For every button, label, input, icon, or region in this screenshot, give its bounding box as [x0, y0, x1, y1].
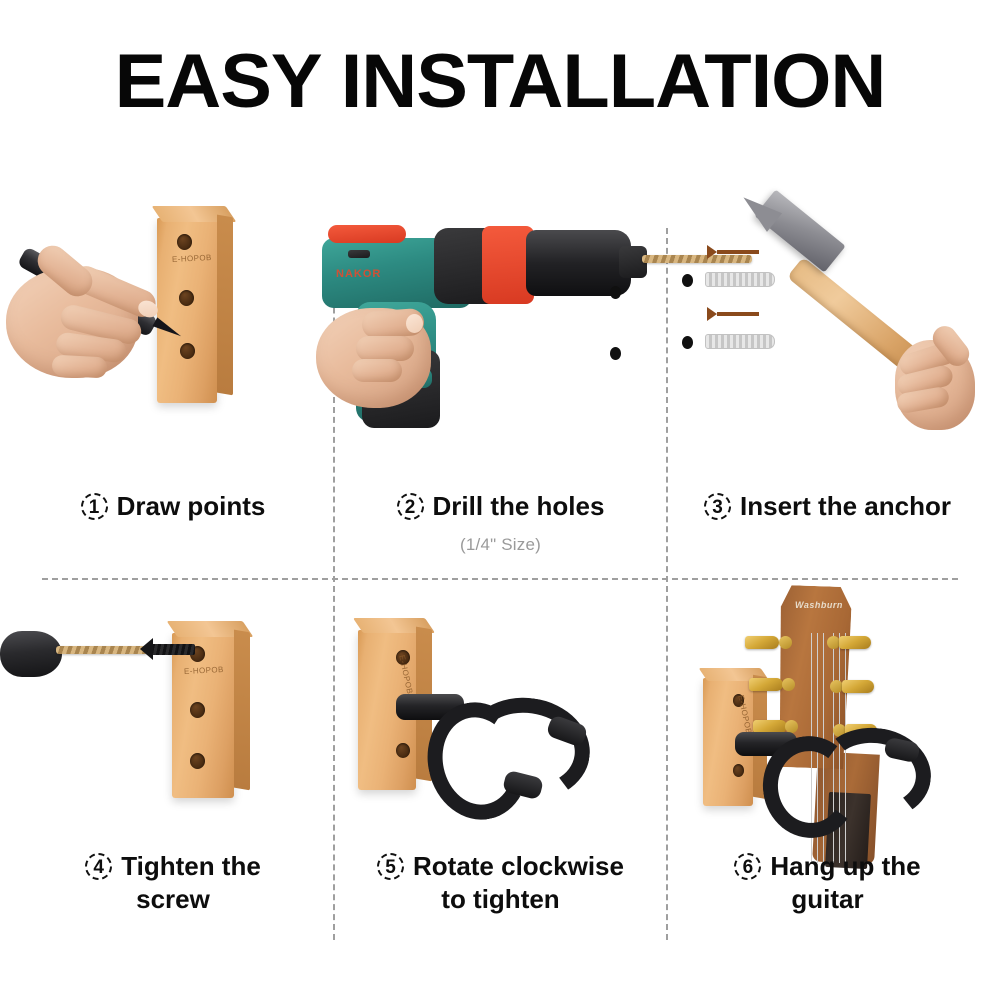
marked-point-bottom	[682, 336, 693, 349]
step-label-1: Draw points	[117, 490, 266, 523]
step-label-3: Insert the anchor	[740, 490, 951, 523]
marked-point-top	[610, 286, 621, 299]
illustration-insert-anchor	[667, 190, 988, 480]
step-label-6-line2: guitar	[667, 883, 988, 916]
tuner-left-1	[745, 636, 779, 649]
tuner-post-left-1	[779, 636, 792, 649]
middle-finger	[356, 336, 414, 361]
index-fingernail	[406, 314, 423, 333]
step-sublabel-2: (1/4" Size)	[334, 528, 667, 561]
illustration-draw-points: E-HOPOB	[12, 190, 334, 480]
wood-hole-bottom	[396, 743, 410, 758]
step-number-badge-5: 5	[377, 853, 404, 880]
arrow-head-bottom	[707, 307, 717, 321]
wood-hole-bottom	[190, 753, 205, 769]
step-label-6-line1: Hang up the	[770, 850, 920, 883]
arrow-bottom	[717, 312, 759, 316]
step-number-badge-3: 3	[704, 493, 731, 520]
step-label-4-line2: screw	[12, 883, 334, 916]
tuner-right-2	[842, 680, 874, 693]
screw-head	[140, 638, 153, 660]
step-card-5: E-HOPOB 5Rotate clockwise to tighten	[334, 578, 667, 960]
step-caption-4: 4Tighten the screw	[12, 850, 334, 916]
guitar-brand-logo: Washburn	[795, 600, 843, 610]
step-card-6: E-HOPOB Washburn	[667, 578, 988, 960]
wood-block-side-face	[234, 630, 250, 791]
tuner-right-1	[839, 636, 871, 649]
step-label-4-line1: Tighten the	[121, 850, 261, 883]
wood-hole-middle	[190, 702, 205, 718]
illustration-hang-guitar: E-HOPOB Washburn	[667, 578, 988, 848]
arrow-head-top	[707, 245, 717, 259]
step-label-5-line2: to tighten	[334, 883, 667, 916]
step-number-badge-4: 4	[85, 853, 112, 880]
tuner-left-2	[749, 678, 783, 691]
step-caption-2: 2Drill the holes (1/4" Size)	[334, 490, 667, 561]
marked-point-top	[682, 274, 693, 287]
wood-block-side-face	[217, 215, 233, 396]
step-label-2: Drill the holes	[433, 490, 605, 523]
step-card-1: E-HOPOB 1Draw points	[12, 190, 334, 578]
step-number-badge-1: 1	[81, 493, 108, 520]
drill-top-red-grip	[328, 225, 406, 243]
step-number-badge-2: 2	[397, 493, 424, 520]
driver-bit	[56, 646, 148, 654]
pinky-finger	[51, 355, 107, 379]
wood-hole-middle	[179, 290, 194, 306]
driver-handle	[0, 631, 62, 677]
illustration-tighten-screw: E-HOPOB	[12, 578, 334, 848]
drill-speed-switch	[348, 250, 370, 258]
wall-anchor-top	[705, 272, 775, 287]
step-number-badge-6: 6	[734, 853, 761, 880]
step-caption-5: 5Rotate clockwise to tighten	[334, 850, 667, 916]
wall-anchor-bottom	[705, 334, 775, 349]
step-card-4: E-HOPOB 4Tighten the screw	[12, 578, 334, 960]
wood-hole-bottom	[180, 343, 195, 359]
tuner-post-left-2	[782, 678, 795, 691]
step-caption-1: 1Draw points	[12, 490, 334, 523]
drill-brand-logo: NAKOR	[336, 268, 381, 280]
screw-shank	[149, 644, 195, 655]
illustration-drill-holes: NAKOR	[334, 190, 667, 480]
ring-finger	[352, 359, 402, 382]
wood-hole-top	[177, 234, 192, 250]
steps-grid: E-HOPOB 1Draw points	[0, 190, 1000, 960]
step-caption-3: 3Insert the anchor	[667, 490, 988, 523]
marked-point-bottom	[610, 347, 621, 360]
page-title: EASY INSTALLATION	[0, 42, 1000, 122]
arrow-top	[717, 250, 759, 254]
illustration-rotate-clockwise: E-HOPOB	[334, 578, 667, 848]
wood-hole-bottom	[733, 764, 744, 777]
step-label-5-line1: Rotate clockwise	[413, 850, 624, 883]
step-card-2: NAKOR 2Drill the holes (1/4" Size)	[334, 190, 667, 578]
step-card-3: 3Insert the anchor	[667, 190, 988, 578]
step-caption-6: 6Hang up the guitar	[667, 850, 988, 916]
